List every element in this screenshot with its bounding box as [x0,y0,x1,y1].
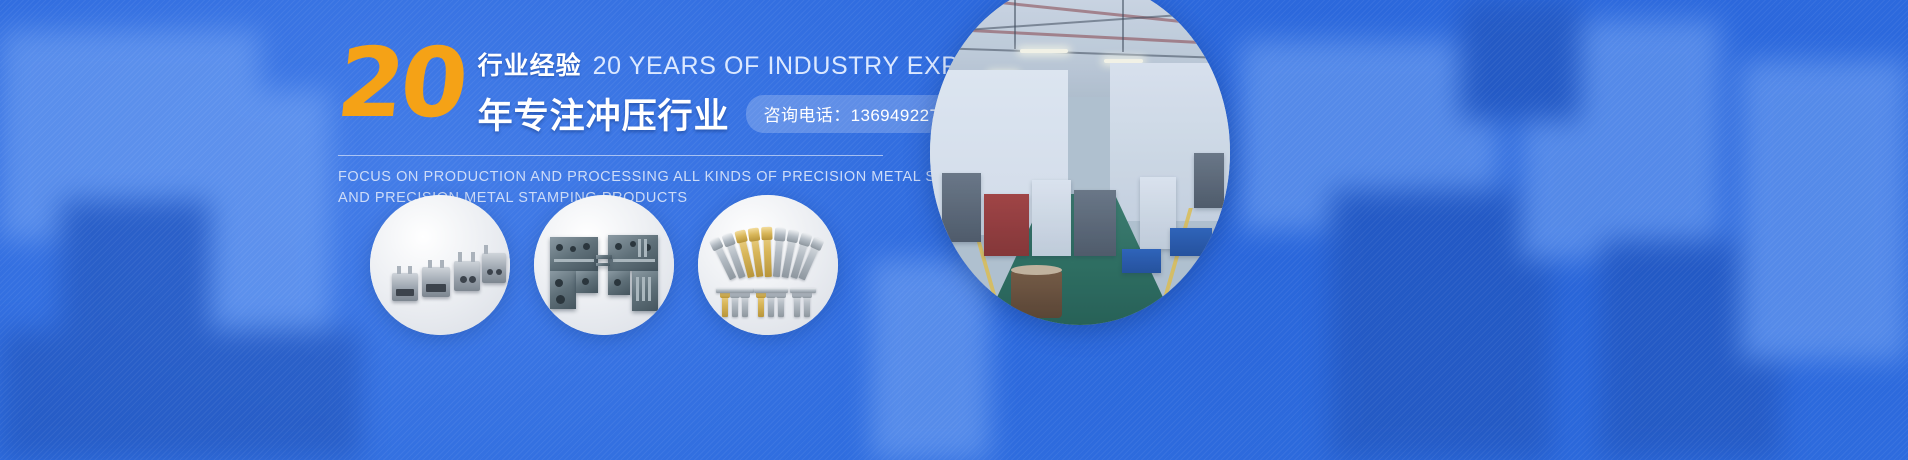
headline-cn-large: 年专注冲压行业 [478,88,730,139]
product-circle-mold [534,195,674,335]
factory-scene [930,0,1230,325]
subtitle-line-1: FOCUS ON PRODUCTION AND PROCESSING ALL K… [338,167,883,188]
factory-photo-circle [930,0,1230,325]
product-circle-terminals [698,195,838,335]
years-number: 20 [334,42,468,125]
headline-block: 20 行业经验 20 YEARS OF INDUSTRY EXPERIENCE … [338,40,898,208]
product-circle-connectors [370,195,510,335]
promo-banner: 20 行业经验 20 YEARS OF INDUSTRY EXPERIENCE … [0,0,1908,460]
headline-cn-small: 行业经验 [478,46,582,82]
headline-row: 20 行业经验 20 YEARS OF INDUSTRY EXPERIENCE … [338,40,898,139]
divider-rule [338,155,883,156]
